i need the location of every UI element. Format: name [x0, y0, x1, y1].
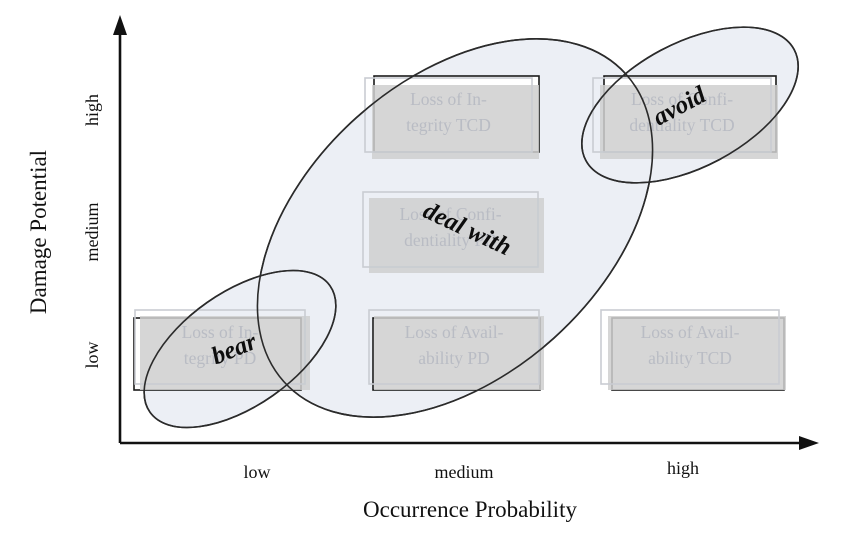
cell-label-integrity-tcd-line2: tegrity TCD [406, 115, 491, 135]
y-axis-title: Damage Potential [26, 150, 51, 314]
cell-label-availability-pd-line1: Loss of Avail- [405, 322, 504, 342]
x-axis-title: Occurrence Probability [363, 497, 577, 522]
cell-label-availability-tcd-line1: Loss of Avail- [641, 322, 740, 342]
y-axis-arrow-icon [113, 15, 127, 35]
x-axis-arrow-icon [799, 436, 819, 450]
x-tick-high: high [667, 458, 699, 478]
x-tick-low: low [244, 462, 271, 482]
y-tick-low: low [82, 341, 102, 368]
y-tick-medium: medium [82, 203, 102, 262]
cell-label-availability-tcd-line2: ability TCD [648, 348, 732, 368]
diagram-canvas: Loss of In- tegrity TCD Loss of Confi- d… [0, 0, 855, 537]
risk-matrix-diagram: Loss of In- tegrity TCD Loss of Confi- d… [0, 0, 855, 537]
y-tick-high: high [82, 94, 102, 126]
cell-label-availability-pd-line2: ability PD [418, 348, 489, 368]
x-tick-medium: medium [435, 462, 494, 482]
cell-label-integrity-tcd-line1: Loss of In- [410, 89, 487, 109]
